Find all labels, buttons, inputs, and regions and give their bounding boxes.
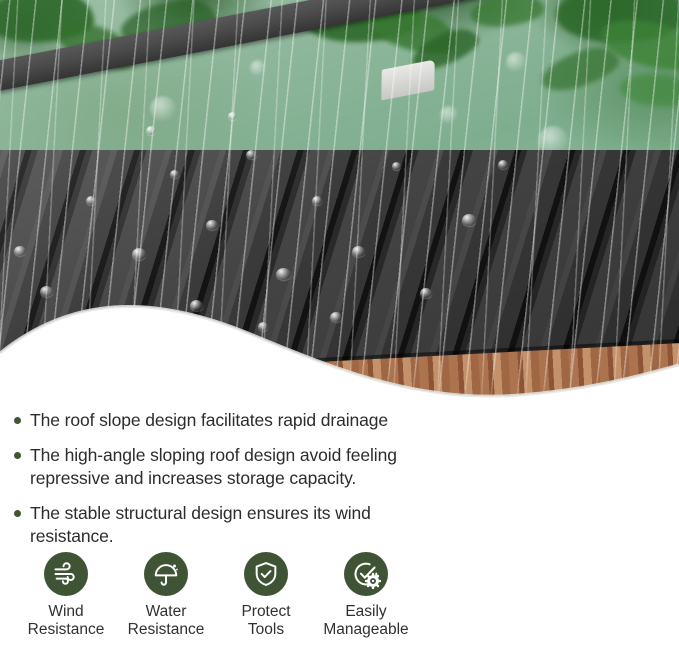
bullet-text: The high-angle sloping roof design avoid… — [30, 444, 434, 489]
white-wave-divider — [0, 291, 679, 410]
feature-label: Easily Manageable — [323, 603, 408, 640]
feature-water-resistance: Water Resistance — [116, 552, 216, 640]
feature-content-area: The roof slope design facilitates rapid … — [0, 400, 679, 649]
bullet-dot-icon — [14, 510, 21, 517]
benefit-bullet-list: The roof slope design facilitates rapid … — [14, 409, 434, 560]
check-gear-icon — [344, 552, 388, 596]
bullet-text: The roof slope design facilitates rapid … — [30, 409, 388, 431]
product-feature-banner: The roof slope design facilitates rapid … — [0, 0, 679, 649]
list-item: The roof slope design facilitates rapid … — [14, 409, 434, 431]
bullet-text: The stable structural design ensures its… — [30, 502, 434, 547]
wind-icon — [44, 552, 88, 596]
feature-icon-strip: Wind Resistance Water Resistance — [16, 552, 416, 640]
bullet-dot-icon — [14, 417, 21, 424]
feature-easily-manageable: Easily Manageable — [316, 552, 416, 640]
list-item: The high-angle sloping roof design avoid… — [14, 444, 434, 489]
feature-label: Wind Resistance — [28, 603, 105, 640]
feature-protect-tools: Protect Tools — [216, 552, 316, 640]
feature-label: Protect Tools — [241, 603, 290, 640]
feature-wind-resistance: Wind Resistance — [16, 552, 116, 640]
hero-rain-roof-photo — [0, 0, 679, 410]
feature-label: Water Resistance — [128, 603, 205, 640]
shield-check-icon — [244, 552, 288, 596]
bullet-dot-icon — [14, 452, 21, 459]
umbrella-icon — [144, 552, 188, 596]
list-item: The stable structural design ensures its… — [14, 502, 434, 547]
